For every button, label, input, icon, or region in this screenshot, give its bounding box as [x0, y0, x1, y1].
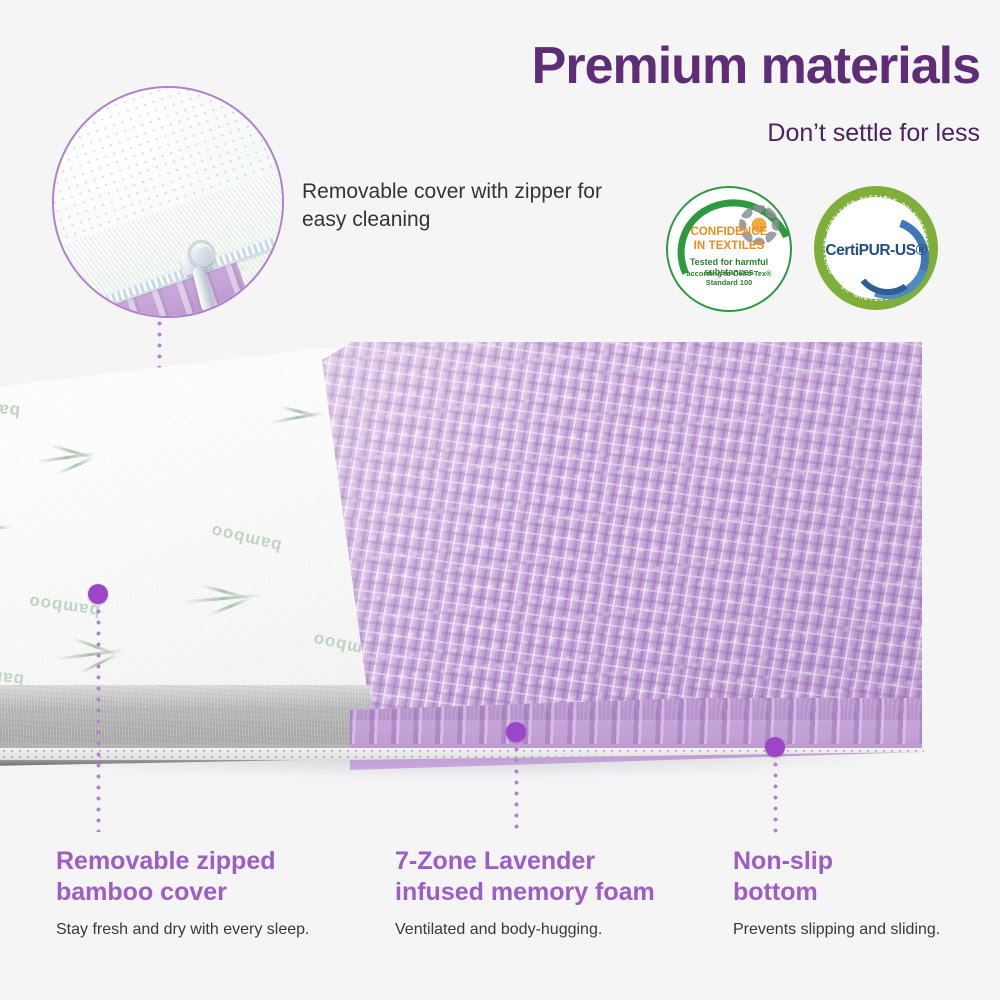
leader-dot-bottom: [765, 737, 785, 757]
certipur-ring-char: I: [880, 195, 882, 201]
feature-2-description: Ventilated and body-hugging.: [395, 920, 695, 941]
product-infographic: Premium materials Don’t settle for less: [0, 0, 1000, 1000]
foam-light-sheen: [322, 342, 924, 722]
certipur-ring-char: E: [869, 195, 873, 201]
feature-2-title-line2: infused memory foam: [395, 878, 655, 906]
oeko-line-2: IN TEXTILES: [668, 240, 790, 252]
feature-2-title-line1: 7-Zone Lavender: [395, 847, 595, 875]
leader-line-foam: [514, 744, 519, 832]
page-subtitle: Don’t settle for less: [410, 120, 980, 148]
feature-1-title: Removable zipped bamboo cover: [56, 846, 386, 908]
feature-3-title: Non-slip bottom: [733, 846, 993, 908]
badge-oeko-tex: CONFIDENCE IN TEXTILES Tested for harmfu…: [666, 186, 792, 312]
badge-certipur-us: CONTAINS CERTIFIED FLEXIBLE POLYURETHANE…: [814, 186, 938, 310]
zipper-closeup-circle: [52, 86, 284, 318]
page-title: Premium materials: [410, 40, 980, 92]
feature-3-title-line1: Non-slip: [733, 847, 833, 875]
certipur-ring-char: P: [864, 294, 869, 301]
feature-2-title: 7-Zone Lavender infused memory foam: [395, 846, 695, 908]
certipur-ring-char: L: [864, 196, 868, 203]
bamboo-leaf-icon: [56, 644, 130, 668]
certipur-ring-char: [825, 234, 831, 237]
oeko-line-4: according to Oeko-Tex® Standard 100: [672, 269, 786, 287]
leader-dot-foam: [506, 722, 526, 742]
zipper-photo: [54, 88, 282, 316]
feature-1: Removable zipped bamboo cover Stay fresh…: [56, 846, 386, 941]
feature-2: 7-Zone Lavender infused memory foam Vent…: [395, 846, 695, 941]
zipper-ring-icon: [188, 240, 215, 267]
lavender-foam-surface: [322, 342, 924, 722]
certipur-ring-char: X: [874, 195, 878, 201]
leader-line-cover: [96, 606, 101, 832]
certipur-ring-char: [856, 198, 860, 204]
mattress-topper-image: bamboo bamboo bamboo bamboo bamboo bambo…: [0, 330, 1000, 770]
oeko-line-1: CONFIDENCE: [668, 226, 790, 238]
oeko-arc-icon: [661, 182, 812, 328]
leader-dot-cover: [88, 584, 108, 604]
certipur-name: CertiPUR-US®: [825, 242, 927, 260]
bamboo-leaf-icon: [184, 588, 258, 612]
feature-1-title-line1: Removable zipped: [56, 847, 276, 875]
bamboo-leaf-icon: [0, 520, 28, 544]
leader-line-bottom: [773, 759, 778, 833]
feature-1-title-line2: bamboo cover: [56, 878, 227, 906]
zipper-callout-text: Removable cover with zipper for easy cle…: [302, 178, 602, 235]
feature-3: Non-slip bottom Prevents slipping and sl…: [733, 846, 993, 941]
bamboo-leaf-icon: [36, 448, 110, 472]
feature-3-description: Prevents slipping and sliding.: [733, 920, 993, 941]
feature-3-title-line2: bottom: [733, 878, 818, 906]
feature-1-description: Stay fresh and dry with every sleep.: [56, 920, 386, 941]
